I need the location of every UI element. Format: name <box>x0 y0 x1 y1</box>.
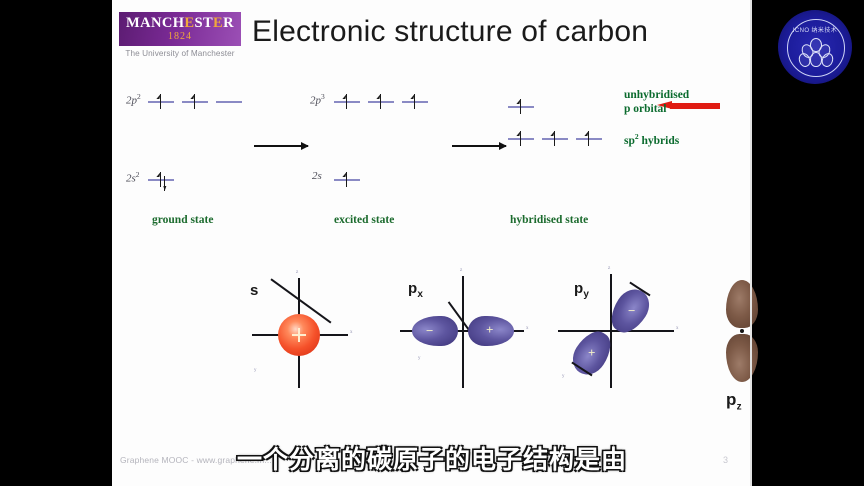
lotus-icon <box>799 38 831 70</box>
video-subtitle: 一个分离的碳原子的电子结构是由 <box>0 440 864 476</box>
spin-up-arrow <box>584 131 593 146</box>
annotation-line-1: unhybridised <box>624 89 689 101</box>
px-lobe-negative <box>412 316 458 346</box>
orbital-shape-label-pz: pz <box>726 390 742 412</box>
sign-positive: + <box>486 325 493 335</box>
logo-purple-box: MANCHESTER 1824 <box>119 12 241 46</box>
state-label-hybridised: hybridised state <box>510 214 588 226</box>
level-label-2s2: 2s2 <box>126 170 140 185</box>
logo-university-name: MANCHESTER <box>119 16 241 30</box>
transition-arrow-1 <box>254 145 308 147</box>
orbital-shape-label-py: py <box>574 280 589 300</box>
icno-watermark-logo: ICNO 纳米技术 <box>778 10 852 84</box>
axis-tick-x: x <box>526 326 529 331</box>
video-player-stage: MANCHESTER 1824 The University of Manche… <box>0 0 864 486</box>
state-label-ground: ground state <box>152 214 213 226</box>
state-label-excited: excited state <box>334 214 394 226</box>
transition-arrow-2 <box>452 145 506 147</box>
annotation-sp-text: sp <box>624 135 635 147</box>
axis-tick-y: y <box>254 368 257 373</box>
spin-up-arrow <box>516 99 525 114</box>
spin-up-arrow <box>156 94 165 109</box>
sign-negative: − <box>628 306 635 316</box>
spin-up-arrow <box>550 131 559 146</box>
axis-tick-y: y <box>562 374 565 379</box>
spin-down-arrow <box>160 176 169 191</box>
sign-negative: − <box>426 326 433 336</box>
annotation-line-2: p orbital <box>624 103 667 115</box>
level-label-2s: 2s <box>312 170 322 182</box>
presentation-slide: MANCHESTER 1824 The University of Manche… <box>112 0 752 486</box>
annotation-hybrids-text: hybrids <box>639 135 680 147</box>
level-label-2p2: 2p2 <box>126 92 141 107</box>
axis-tick-z: z <box>460 268 462 273</box>
spin-up-arrow <box>342 172 351 187</box>
spin-up-arrow <box>190 94 199 109</box>
annotation-unhybridised-p: unhybridised p orbital <box>624 88 689 116</box>
orbital-line-2p-c-empty <box>216 101 242 103</box>
slide-title: Electronic structure of carbon <box>252 12 742 52</box>
axis-tick-z: z <box>608 266 610 271</box>
sign-positive: + <box>588 348 595 358</box>
axis-tick-z: z <box>296 270 298 275</box>
logo-text: ICNO 纳米技术 <box>778 25 852 34</box>
axis-tick-x: x <box>676 326 679 331</box>
orbital-shape-label-s: s <box>250 282 259 299</box>
logo-subtitle: The University of Manchester <box>119 46 241 58</box>
spin-up-arrow <box>376 94 385 109</box>
orbital-shape-label-px: px <box>408 280 423 300</box>
nucleus-star <box>292 328 306 342</box>
logo-founding-year: 1824 <box>119 31 241 42</box>
spin-up-arrow <box>410 94 419 109</box>
axis-tick-y: y <box>418 356 421 361</box>
pz-lobe-bottom <box>726 334 758 382</box>
pz-node-point <box>740 329 744 333</box>
spin-up-arrow <box>516 131 525 146</box>
university-logo: MANCHESTER 1824 The University of Manche… <box>119 12 241 58</box>
spin-up-arrow <box>342 94 351 109</box>
axis-z <box>462 276 464 388</box>
axis-tick-x: x <box>350 330 353 335</box>
axis-x <box>558 330 674 332</box>
annotation-sp2-hybrids: sp2 hybrids <box>624 130 679 148</box>
petal-center <box>810 52 822 67</box>
pz-lobe-top <box>726 280 758 328</box>
level-label-2p3: 2p3 <box>310 92 325 107</box>
